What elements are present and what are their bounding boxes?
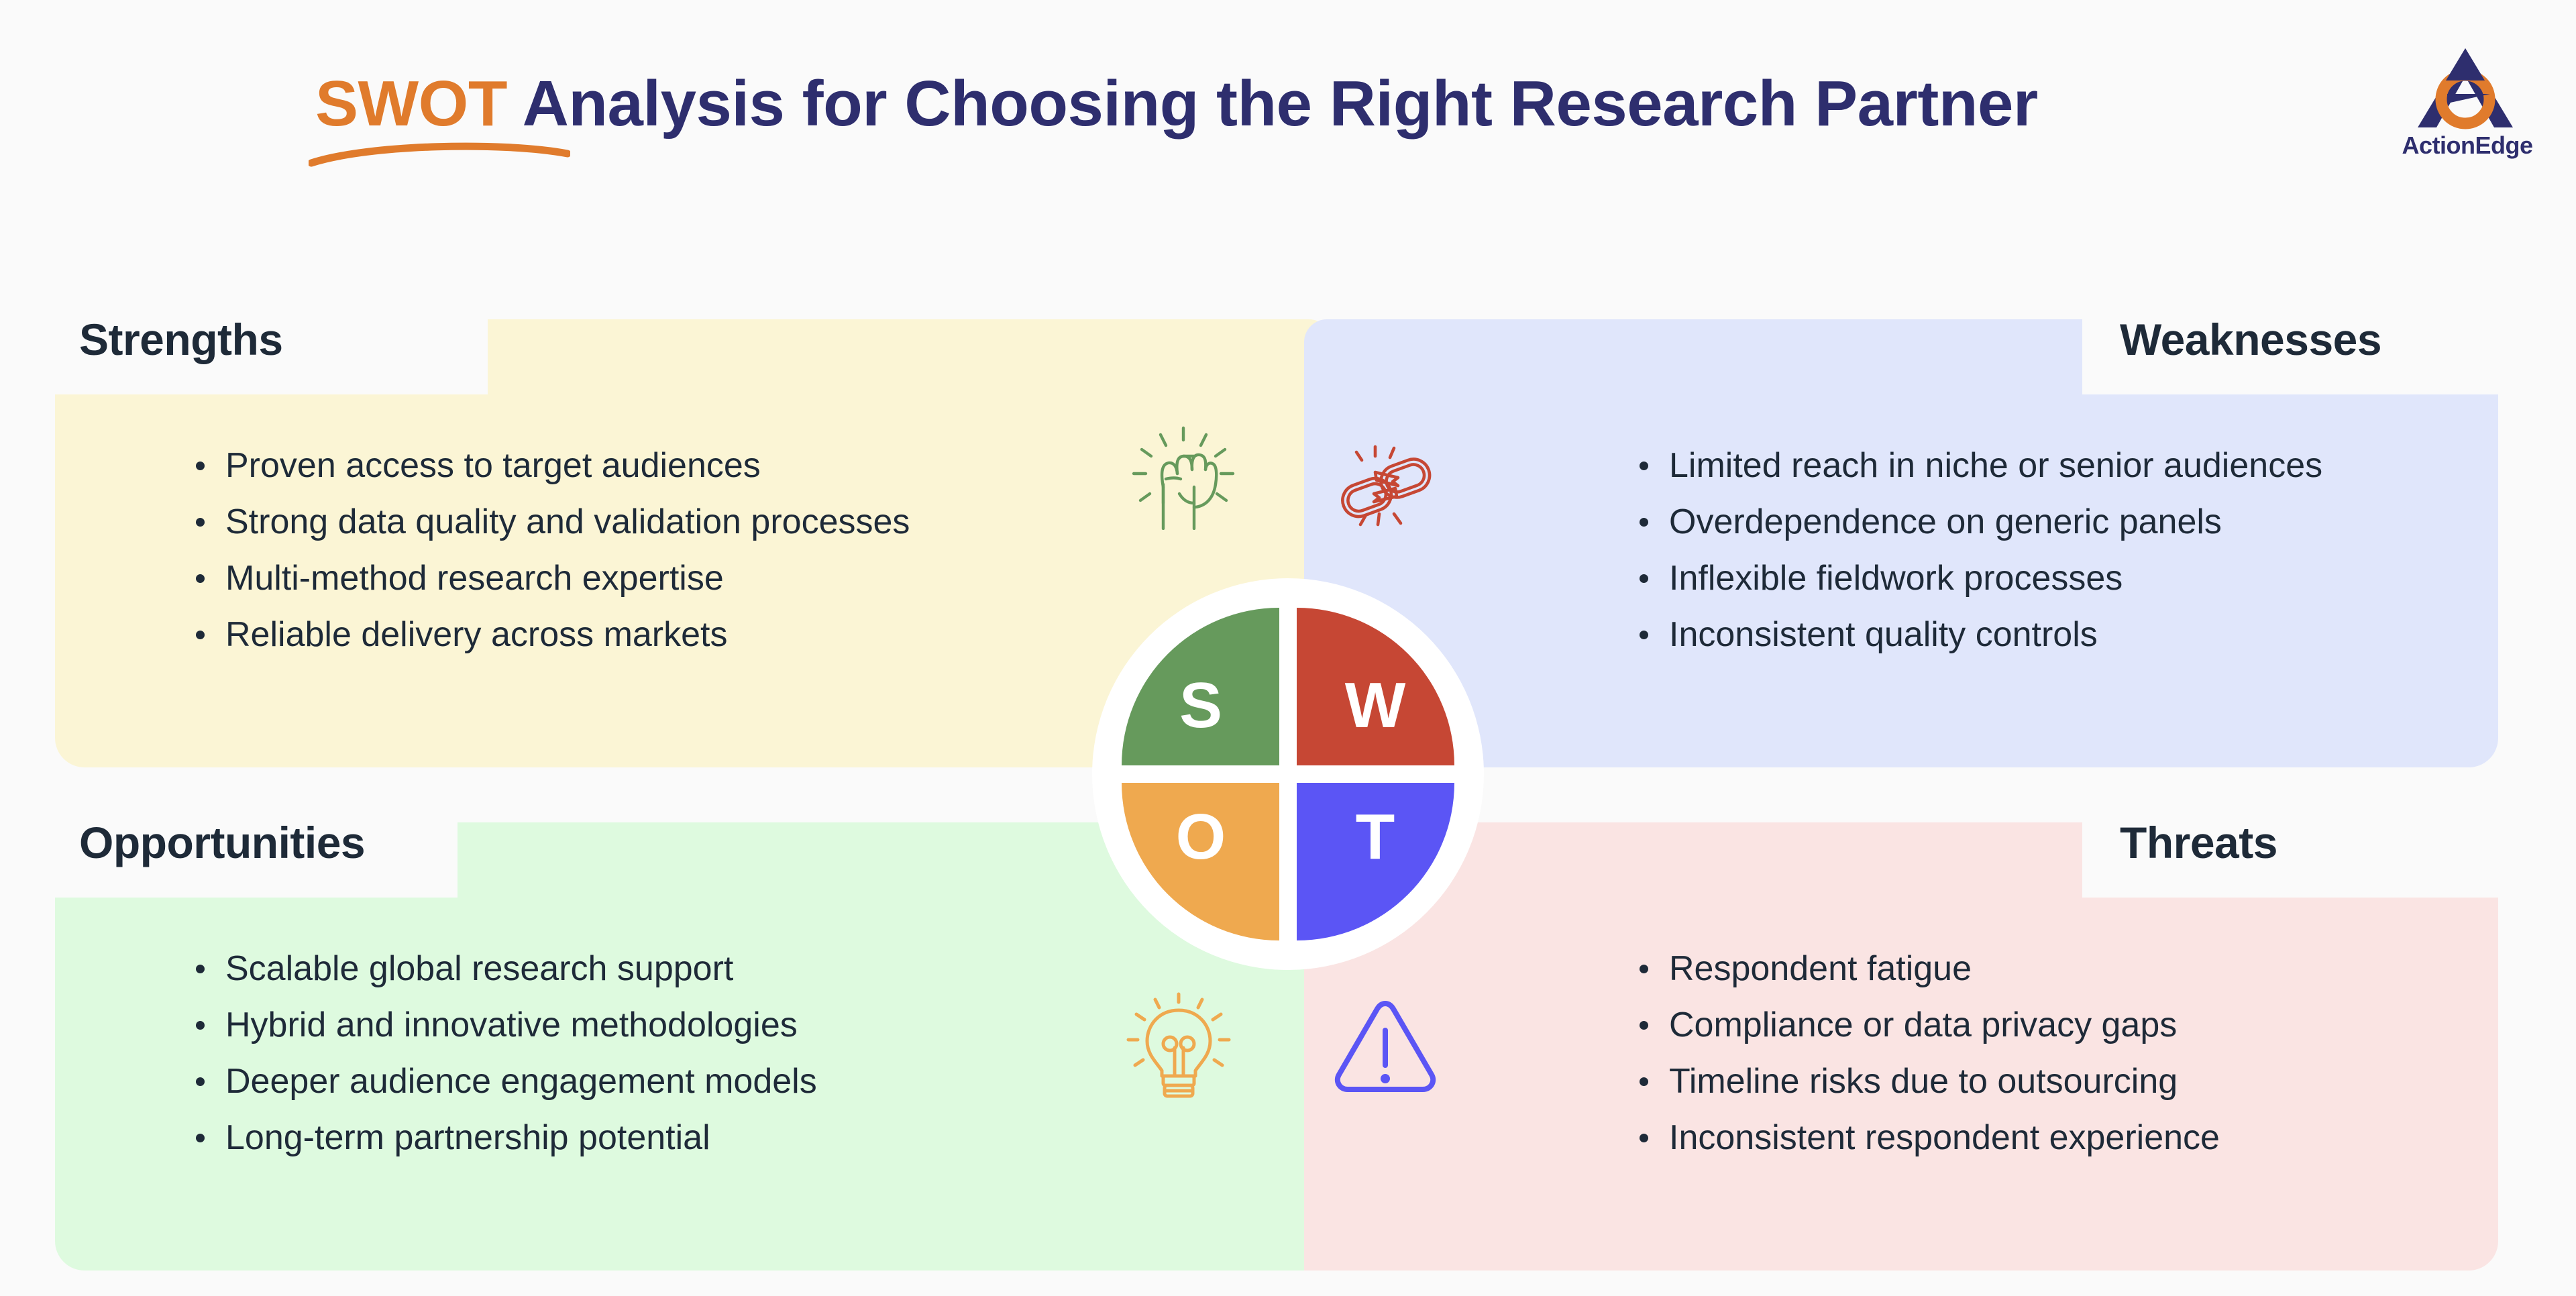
list-item: Inconsistent quality controls (1637, 617, 2322, 652)
list-item: Long-term partnership potential (193, 1120, 817, 1155)
heading-strengths: Strengths (79, 314, 283, 365)
lightbulb-icon (1122, 991, 1236, 1099)
list-strengths: Proven access to target audiences Strong… (193, 448, 910, 652)
list-weaknesses: Limited reach in niche or senior audienc… (1637, 448, 2322, 652)
list-item: Overdependence on generic panels (1637, 504, 2322, 539)
page-title: SWOT Analysis for Choosing the Right Res… (315, 70, 2038, 138)
header: SWOT Analysis for Choosing the Right Res… (0, 0, 2576, 282)
list-item: Inconsistent respondent experience (1637, 1120, 2220, 1155)
title-block: SWOT Analysis for Choosing the Right Res… (315, 70, 2038, 138)
list-item: Multi-method research expertise (193, 561, 910, 596)
list-item: Deeper audience engagement models (193, 1064, 817, 1099)
panel-band (1304, 319, 2082, 394)
list-item: Reliable delivery across markets (193, 617, 910, 652)
list-threats: Respondent fatigue Compliance or data pr… (1637, 951, 2220, 1155)
wheel-letter-s: S (1161, 673, 1241, 738)
swot-infographic: SWOT Analysis for Choosing the Right Res… (0, 0, 2576, 1296)
wheel-letter-t: T (1335, 805, 1415, 869)
broken-chain-icon (1328, 427, 1442, 534)
logo-wordmark: ActionEdge (2400, 131, 2534, 160)
list-item: Respondent fatigue (1637, 951, 2220, 986)
heading-opportunities: Opportunities (79, 817, 365, 868)
list-item: Scalable global research support (193, 951, 817, 986)
wheel-letter-o: O (1161, 805, 1241, 869)
list-item: Limited reach in niche or senior audienc… (1637, 448, 2322, 483)
list-item: Timeline risks due to outsourcing (1637, 1064, 2220, 1099)
warning-triangle-icon (1328, 991, 1442, 1099)
title-rest: Analysis for Choosing the Right Research… (507, 68, 2038, 140)
swot-wheel-graphic (1092, 578, 1484, 970)
orange-swoosh-underline-icon (309, 140, 570, 167)
swot-wheel: S W O T (1092, 578, 1484, 970)
actionedge-monogram-icon (2415, 46, 2516, 130)
wheel-letter-w: W (1335, 673, 1415, 738)
heading-weaknesses: Weaknesses (2120, 314, 2381, 365)
list-item: Compliance or data privacy gaps (1637, 1008, 2220, 1042)
raised-fist-icon (1122, 423, 1236, 530)
panel-band (488, 319, 1332, 394)
logo: ActionEdge (2400, 46, 2534, 173)
list-item: Strong data quality and validation proce… (193, 504, 910, 539)
title-accent-word: SWOT (315, 68, 507, 140)
list-item: Proven access to target audiences (193, 448, 910, 483)
list-item: Hybrid and innovative methodologies (193, 1008, 817, 1042)
list-item: Inflexible fieldwork processes (1637, 561, 2322, 596)
list-opportunities: Scalable global research support Hybrid … (193, 951, 817, 1155)
heading-threats: Threats (2120, 817, 2277, 868)
